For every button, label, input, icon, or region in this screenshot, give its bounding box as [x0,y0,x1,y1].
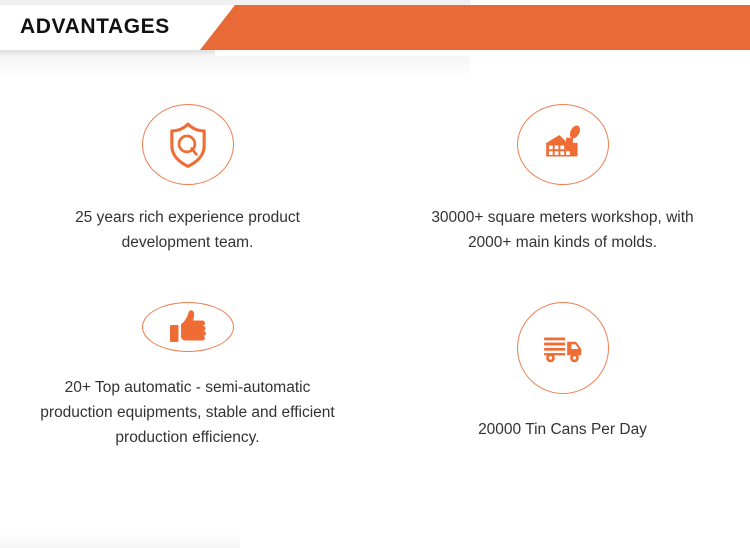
advantage-text: 20+ Top automatic - semi-automatic produ… [38,375,338,450]
advantages-grid: 25 years rich experience product develop… [0,60,750,450]
advantage-text: 30000+ square meters workshop, with 2000… [413,205,713,255]
advantage-card: 30000+ square meters workshop, with 2000… [375,60,750,255]
icon-circle [517,104,609,185]
advantage-card: 20+ Top automatic - semi-automatic produ… [0,255,375,450]
advantage-card: 25 years rich experience product develop… [0,60,375,255]
icon-circle [142,104,234,185]
shield-quality-icon [163,120,213,170]
bottom-fade [0,534,240,548]
header-drop-shadow [0,50,215,59]
advantage-card: 20000 Tin Cans Per Day [375,255,750,450]
advantage-text: 20000 Tin Cans Per Day [413,417,713,442]
page-title: ADVANTAGES [20,12,170,42]
factory-icon [538,120,588,170]
icon-circle [517,302,609,394]
thumbs-up-icon [164,303,212,351]
advantage-text: 25 years rich experience product develop… [38,205,338,255]
page-header: ADVANTAGES [0,0,750,56]
icon-circle [142,302,234,352]
delivery-truck-icon [538,323,588,373]
